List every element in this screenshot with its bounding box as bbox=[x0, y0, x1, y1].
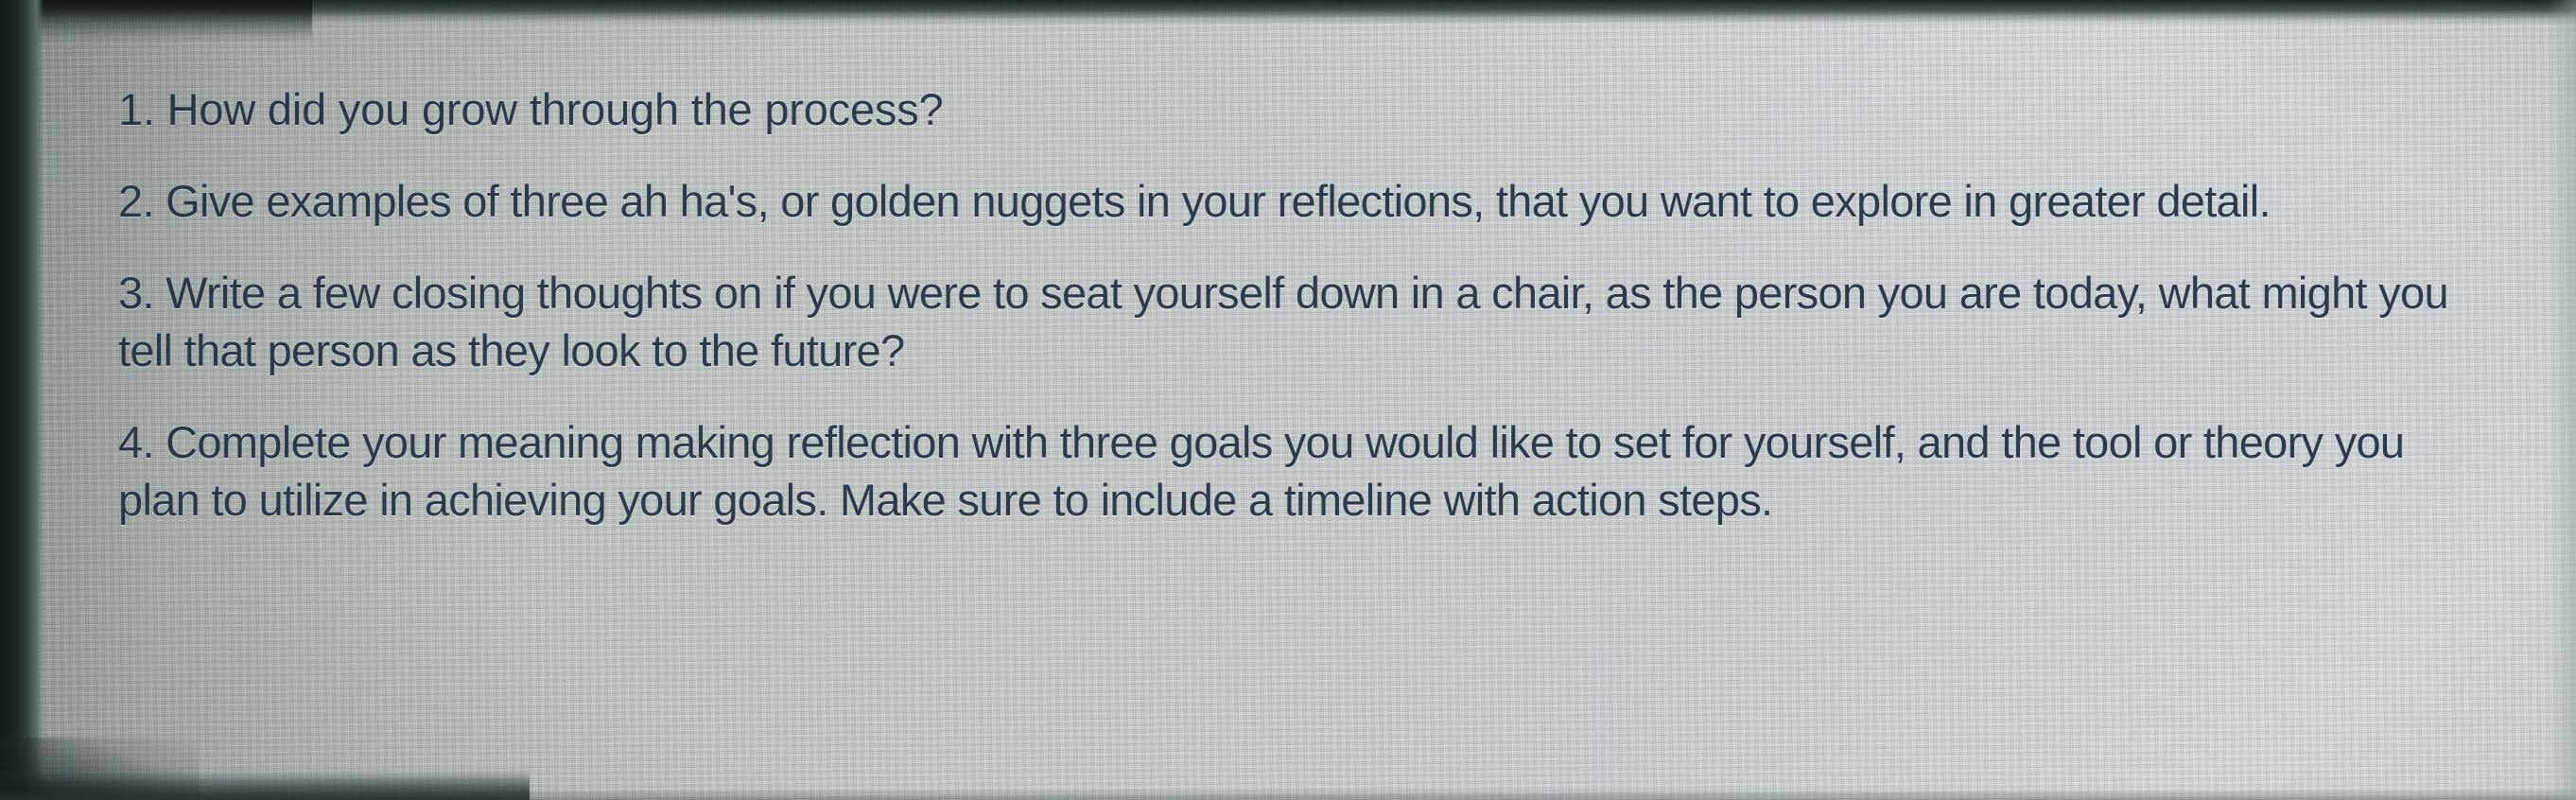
instruction-item-2: 2. Give examples of three ah ha's, or go… bbox=[118, 172, 2501, 230]
instruction-item-4: 4. Complete your meaning making reflecti… bbox=[118, 413, 2454, 529]
document-text-body: 1. How did you grow through the process?… bbox=[118, 80, 2501, 530]
instruction-item-3: 3. Write a few closing thoughts on if yo… bbox=[118, 264, 2501, 379]
screen-photo: 1. How did you grow through the process?… bbox=[0, 0, 2576, 800]
instruction-item-1: 1. How did you grow through the process? bbox=[118, 80, 2501, 138]
